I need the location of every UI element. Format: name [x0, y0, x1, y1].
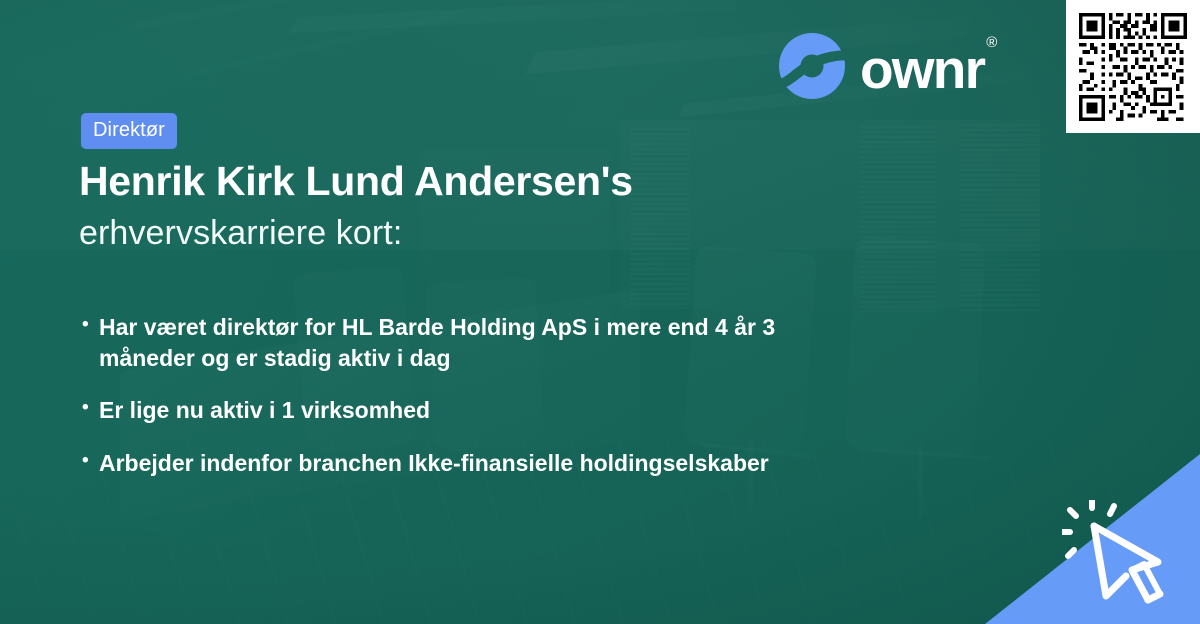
bullet-marker-icon: • [82, 395, 99, 422]
registered-trademark-icon: ® [986, 35, 997, 50]
ownr-logo[interactable]: ownr ® [778, 32, 995, 100]
qr-code[interactable] [1066, 0, 1200, 133]
list-item: • Har været direktør for HL Barde Holdin… [82, 312, 982, 373]
page-subtitle: erhvervskarriere kort: [79, 214, 402, 253]
bullet-marker-icon: • [82, 312, 99, 339]
bullet-marker-icon: • [82, 448, 99, 475]
page-title: Henrik Kirk Lund Andersen's [79, 158, 633, 205]
corner-triangle [985, 454, 1200, 624]
click-cursor-icon [1062, 500, 1192, 620]
list-item-text: Arbejder indenfor branchen Ikke-finansie… [99, 448, 769, 479]
list-item: • Arbejder indenfor branchen Ikke-finans… [82, 448, 982, 479]
role-badge: Direktør [81, 113, 177, 149]
career-summary-card: Direktør Henrik Kirk Lund Andersen's erh… [0, 0, 1200, 624]
career-facts-list: • Har været direktør for HL Barde Holdin… [82, 312, 982, 500]
ownr-circle-swoosh-icon [778, 32, 846, 100]
list-item-text: Er lige nu aktiv i 1 virksomhed [99, 395, 430, 426]
blue-corner-accent [985, 454, 1200, 624]
ownr-wordmark: ownr [860, 42, 984, 97]
list-item: • Er lige nu aktiv i 1 virksomhed [82, 395, 982, 426]
list-item-text: Har været direktør for HL Barde Holding … [99, 312, 839, 373]
